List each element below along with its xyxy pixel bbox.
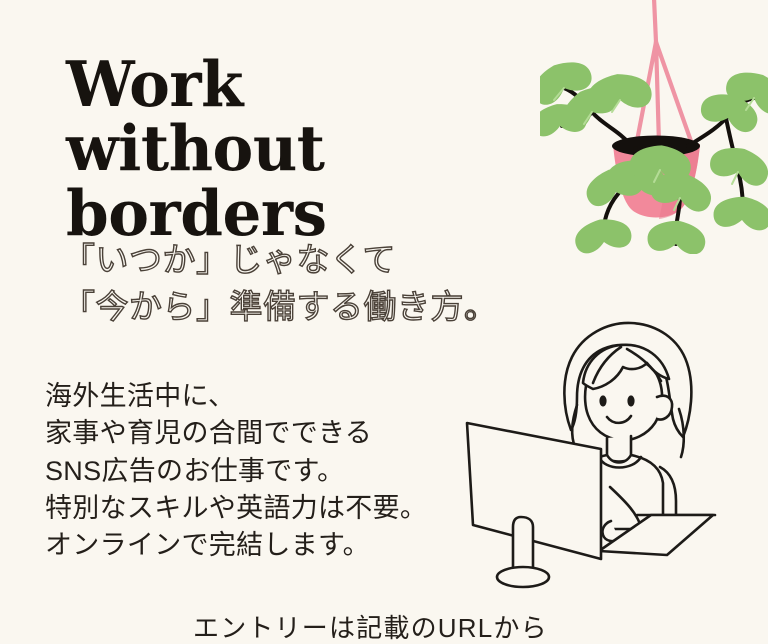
woman-at-desk-svg <box>455 305 768 605</box>
page-title: Work without borders <box>66 52 522 245</box>
hanging-plant-illustration <box>540 0 768 254</box>
hair-strand-right <box>627 349 661 381</box>
hair-strand-left <box>593 347 621 383</box>
eye-right <box>627 395 634 406</box>
entry-instruction-text: エントリーは記載のURLから <box>193 608 548 644</box>
left-arm <box>610 487 641 527</box>
hand <box>602 521 619 541</box>
hanging-plant-svg <box>540 0 768 254</box>
subtitle-text: 「いつか」じゃなくて 「今から」準備する働き方。 <box>62 237 542 331</box>
plant-pot <box>612 136 700 220</box>
monitor-base <box>497 567 549 587</box>
eye-left <box>599 395 606 406</box>
woman-at-computer-illustration <box>455 305 768 605</box>
hair-lock-left <box>572 405 577 447</box>
neck <box>607 436 631 462</box>
monitor-screen-back <box>467 423 601 559</box>
mouth <box>607 416 631 423</box>
body-copy-text: 海外生活中に、 家事や育児の合間でできる SNS広告のお仕事です。 特別なスキル… <box>45 378 475 564</box>
poster-canvas: Work without borders 「いつか」じゃなくて 「今から」準備す… <box>0 0 768 644</box>
hanger-cords <box>636 0 692 146</box>
hair-lock-right <box>679 409 684 457</box>
plant-leaves <box>540 53 768 254</box>
hair-back <box>564 323 691 437</box>
plant-vines <box>562 88 754 244</box>
collar <box>599 457 641 468</box>
pot-soil <box>612 136 700 157</box>
keyboard <box>599 515 713 555</box>
face <box>585 357 662 440</box>
monitor-stand <box>513 517 533 578</box>
leaf-veins <box>554 88 754 210</box>
right-arm <box>660 467 676 521</box>
hair-bangs <box>583 345 669 389</box>
ear <box>657 396 672 420</box>
torso <box>575 455 663 529</box>
